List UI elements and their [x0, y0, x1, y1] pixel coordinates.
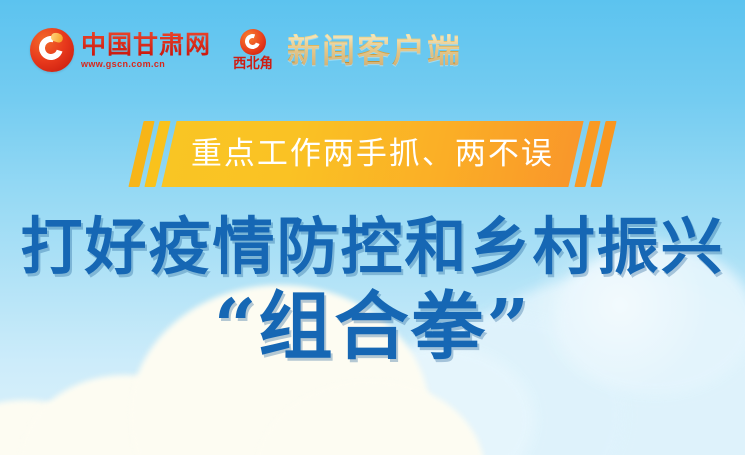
xibeijiao-logo: 西北角 — [227, 29, 279, 71]
cream-cloud-shape — [20, 375, 230, 455]
subtitle-ribbon: 重点工作两手抓、两不误 — [0, 120, 745, 188]
headline-line-1: 打好疫情防控和乡村振兴 — [0, 216, 745, 278]
headline-line-2: “组合拳” — [0, 290, 745, 364]
xibeijiao-seal-text: 西北角 — [233, 57, 273, 71]
news-client-title: 新闻客户端 — [287, 34, 462, 67]
gansu-net-url: www.gscn.com.cn — [81, 60, 211, 69]
logo-bar: 中国甘肃网 www.gscn.com.cn 西北角 新闻客户端 — [30, 22, 462, 78]
ribbon-text: 重点工作两手抓、两不误 — [191, 139, 554, 170]
headline: 打好疫情防控和乡村振兴 “组合拳” — [0, 216, 745, 364]
poster-banner: 中国甘肃网 www.gscn.com.cn 西北角 新闻客户端 重点工作两手抓、… — [0, 0, 745, 455]
gansu-net-wordmark: 中国甘肃网 www.gscn.com.cn — [81, 32, 211, 69]
gansu-net-name: 中国甘肃网 — [81, 32, 211, 57]
brand-gansu-net[interactable]: 中国甘肃网 www.gscn.com.cn — [30, 28, 211, 72]
ribbon-row: 重点工作两手抓、两不误 — [136, 121, 609, 187]
xibeijiao-swirl-icon — [240, 29, 266, 55]
gansu-net-logo-icon — [30, 28, 74, 72]
pale-cloud-shape — [245, 375, 445, 455]
brand-news-client[interactable]: 西北角 新闻客户端 — [227, 29, 462, 71]
cream-cloud-shape — [255, 380, 485, 455]
cream-cloud-shape — [0, 425, 390, 455]
ribbon-body: 重点工作两手抓、两不误 — [161, 121, 583, 187]
cream-cloud-shape — [0, 400, 120, 455]
